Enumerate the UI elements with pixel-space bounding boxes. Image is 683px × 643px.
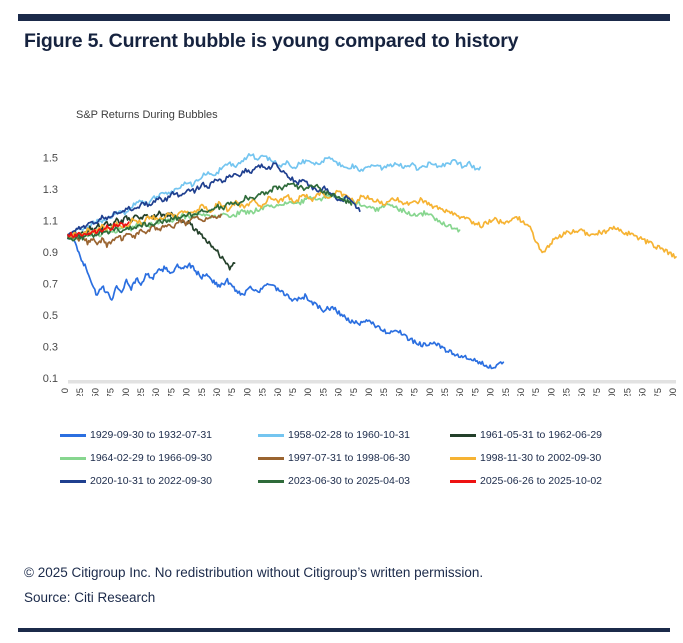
y-axis-tick-label: 0.7 <box>43 279 58 291</box>
legend-item[interactable]: 1929-09-30 to 1932-07-31 <box>60 429 212 441</box>
x-axis-tick-label: 475 <box>349 388 360 396</box>
x-axis-tick-label: 700 <box>486 388 497 396</box>
x-axis-tick-label: 450 <box>334 388 345 396</box>
x-axis-tick-label: 850 <box>577 388 588 396</box>
x-axis-tick-label: 750 <box>516 388 527 396</box>
x-axis-tick-label: 125 <box>136 388 147 396</box>
legend-label: 2025-06-26 to 2025-10-02 <box>480 475 602 487</box>
x-axis-tick-label: 25 <box>75 388 86 396</box>
series-line <box>68 214 221 247</box>
legend-color-swatch <box>60 457 86 460</box>
x-axis-tick-label: 650 <box>455 388 466 396</box>
y-axis-tick-label: 1.3 <box>43 184 58 196</box>
x-axis-tick-label: 575 <box>410 388 421 396</box>
x-axis-tick-label: 875 <box>592 388 603 396</box>
legend-color-swatch <box>258 480 284 483</box>
y-axis-tick-label: 1.5 <box>43 153 58 165</box>
legend-item[interactable]: 2023-06-30 to 2025-04-03 <box>258 475 410 487</box>
footer-block: © 2025 Citigroup Inc. No redistribution … <box>24 566 483 604</box>
legend-item[interactable]: 1997-07-31 to 1998-06-30 <box>258 452 410 464</box>
legend-color-swatch <box>258 434 284 437</box>
x-axis-tick-label: 100 <box>121 388 132 396</box>
x-axis-tick-label: 1000 <box>668 388 679 396</box>
legend-item[interactable]: 2025-06-26 to 2025-10-02 <box>450 475 602 487</box>
x-axis-tick-label: 350 <box>273 388 284 396</box>
figure-title: Figure 5. Current bubble is young compar… <box>24 30 518 53</box>
x-axis-tick-label: 225 <box>197 388 208 396</box>
x-axis-tick-label: 300 <box>242 388 253 396</box>
x-axis-tick-label: 500 <box>364 388 375 396</box>
legend-item[interactable]: 1998-11-30 to 2002-09-30 <box>450 452 601 464</box>
legend-label: 2023-06-30 to 2025-04-03 <box>288 475 410 487</box>
y-axis-tick-label: 0.3 <box>43 342 58 354</box>
top-rule <box>18 14 670 21</box>
x-axis-tick-label: 425 <box>318 388 329 396</box>
legend-label: 1964-02-29 to 1966-09-30 <box>90 452 212 464</box>
source-text: Source: Citi Research <box>24 591 483 605</box>
legend-item[interactable]: 1958-02-28 to 1960-10-31 <box>258 429 410 441</box>
x-axis-tick-label: 250 <box>212 388 223 396</box>
legend-color-swatch <box>258 457 284 460</box>
x-axis-tick-label: 825 <box>562 388 573 396</box>
x-axis-tick-label: 675 <box>470 388 481 396</box>
x-axis-tick-label: 50 <box>90 388 101 396</box>
series-line <box>68 211 235 269</box>
series-line <box>68 236 503 369</box>
x-axis-tick-label: 975 <box>653 388 664 396</box>
copyright-text: © 2025 Citigroup Inc. No redistribution … <box>24 566 483 580</box>
x-axis-tick-label: 900 <box>607 388 618 396</box>
x-axis-tick-label: 200 <box>182 388 193 396</box>
x-axis-tick-label: 175 <box>166 388 177 396</box>
x-axis-tick-label: 0 <box>60 388 71 393</box>
legend-label: 1998-11-30 to 2002-09-30 <box>480 452 601 464</box>
x-axis-tick-label: 150 <box>151 388 162 396</box>
legend-color-swatch <box>450 434 476 437</box>
legend-item[interactable]: 2020-10-31 to 2022-09-30 <box>60 475 212 487</box>
y-axis-tick-label: 0.9 <box>43 247 58 259</box>
y-axis-tick-label: 0.1 <box>43 373 58 385</box>
legend-color-swatch <box>60 480 86 483</box>
legend-label: 2020-10-31 to 2022-09-30 <box>90 475 212 487</box>
x-axis-tick-label: 950 <box>638 388 649 396</box>
x-axis-tick-label: 75 <box>106 388 117 396</box>
legend-label: 1958-02-28 to 1960-10-31 <box>288 429 410 441</box>
x-axis-tick-label: 525 <box>379 388 390 396</box>
x-axis-tick-label: 625 <box>440 388 451 396</box>
x-axis-tick-label: 725 <box>501 388 512 396</box>
figure-page: Figure 5. Current bubble is young compar… <box>0 0 683 643</box>
legend-color-swatch <box>60 434 86 437</box>
series-line <box>68 191 676 258</box>
chart-container: S&P Returns During Bubbles 0.10.30.50.70… <box>0 96 683 526</box>
legend-color-swatch <box>450 480 476 483</box>
x-axis-tick-label: 550 <box>394 388 405 396</box>
x-axis-tick-label: 600 <box>425 388 436 396</box>
legend-label: 1961-05-31 to 1962-06-29 <box>480 429 602 441</box>
y-axis-tick-label: 0.5 <box>43 310 58 322</box>
legend-color-swatch <box>450 457 476 460</box>
x-axis-tick-label: 400 <box>303 388 314 396</box>
line-chart-plot: 0.10.30.50.70.91.11.31.50255075100125150… <box>0 96 683 396</box>
legend-item[interactable]: 1964-02-29 to 1966-09-30 <box>60 452 212 464</box>
x-axis-line <box>68 380 676 384</box>
legend-item[interactable]: 1961-05-31 to 1962-06-29 <box>450 429 602 441</box>
bottom-rule <box>18 628 670 632</box>
legend-label: 1929-09-30 to 1932-07-31 <box>90 429 212 441</box>
x-axis-tick-label: 375 <box>288 388 299 396</box>
x-axis-tick-label: 800 <box>546 388 557 396</box>
y-axis-tick-label: 1.1 <box>43 216 58 228</box>
x-axis-tick-label: 275 <box>227 388 238 396</box>
x-axis-tick-label: 925 <box>622 388 633 396</box>
x-axis-tick-label: 325 <box>258 388 269 396</box>
legend-label: 1997-07-31 to 1998-06-30 <box>288 452 410 464</box>
x-axis-tick-label: 775 <box>531 388 542 396</box>
